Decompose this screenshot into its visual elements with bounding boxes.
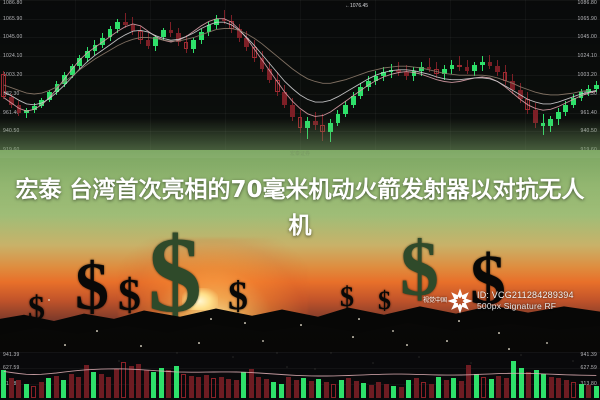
particle xyxy=(210,318,212,320)
volume-ma-line xyxy=(0,352,600,400)
watermark-text-block: ID: VCG211284289394 500px Signature RF xyxy=(477,290,574,312)
dollar-sign-7: $ xyxy=(378,288,391,314)
particle xyxy=(406,344,408,346)
vcg-brand-label: 视觉中国 xyxy=(423,295,447,304)
price-annotation: ←1076.45 xyxy=(345,3,368,9)
particle xyxy=(446,340,448,342)
particle xyxy=(64,344,66,346)
dollar-sign-3: $ xyxy=(118,272,141,318)
particle xyxy=(244,322,246,324)
particle xyxy=(358,318,360,320)
watermark-image-id: ID: VCG211284289394 xyxy=(477,290,574,301)
particle xyxy=(498,332,500,334)
headline-text: 宏泰 台湾首次亮相的70毫米机动火箭发射器以对抗无人机 xyxy=(0,172,600,244)
particle xyxy=(508,348,510,350)
dollar-sign-5: $ xyxy=(228,276,248,316)
ma-line xyxy=(4,369,597,376)
news-image-composite: $$$$$$$$$ 1086.801086.801065.901065.9010… xyxy=(0,0,600,400)
price-candlestick-chart[interactable]: 1086.801086.801065.901065.901045.001045.… xyxy=(0,0,600,150)
particle xyxy=(48,299,50,301)
moving-average-lines xyxy=(0,0,600,150)
band-label: 宏泰证券 xyxy=(290,150,310,158)
watermark-license: 500px Signature RF xyxy=(477,301,574,312)
particle xyxy=(458,320,460,322)
particle xyxy=(140,345,142,347)
volume-bar-chart[interactable]: 941.39941.39627.59627.59313.80313.8000 xyxy=(0,352,600,400)
dollar-sign-2: $ xyxy=(75,252,109,320)
particle xyxy=(352,336,354,338)
particle xyxy=(392,330,394,332)
ma-line xyxy=(4,19,596,117)
particle xyxy=(300,324,302,326)
vcg-logo-icon: 视觉中国 xyxy=(445,286,475,316)
ma-line xyxy=(4,22,596,105)
particle xyxy=(262,340,264,342)
particle xyxy=(198,342,200,344)
particle xyxy=(546,342,548,344)
watermark: 视觉中国 ID: VCG211284289394 500px Signature… xyxy=(445,286,574,316)
particle xyxy=(96,330,98,332)
ma-line xyxy=(4,29,589,95)
